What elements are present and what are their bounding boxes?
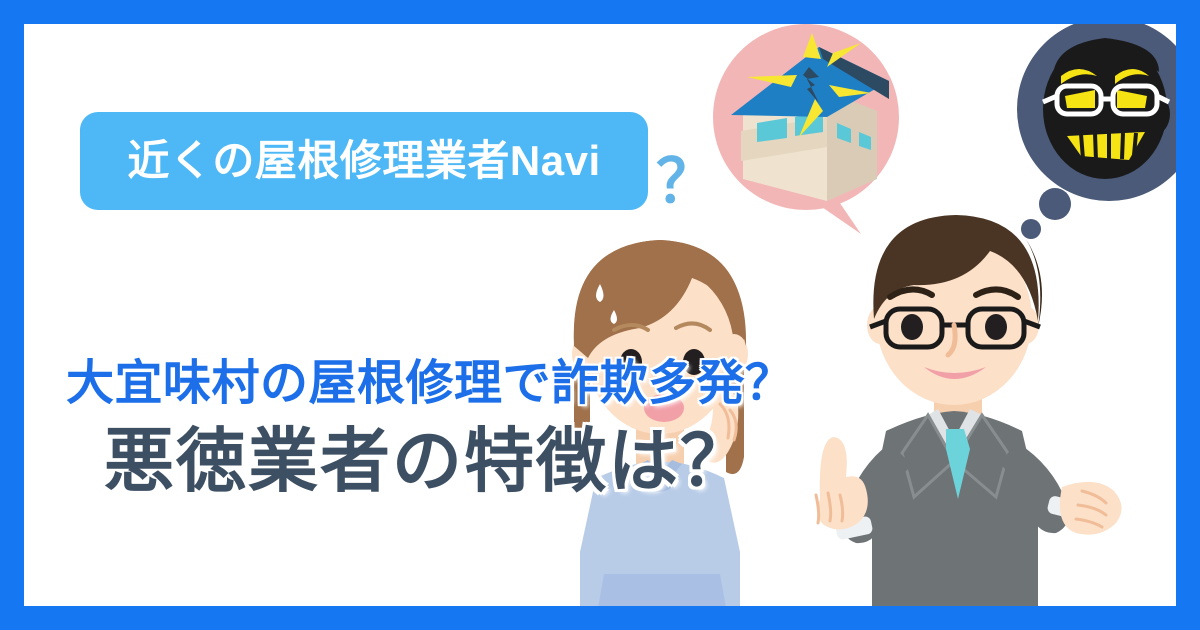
site-name-label: 近くの屋根修理業者Navi (127, 140, 600, 182)
worried-woman-illustration (544, 222, 774, 606)
site-name-badge[interactable]: 近くの屋根修理業者Navi (80, 112, 648, 210)
thumbnail-canvas: 近くの屋根修理業者Navi ？ 大宜味村の屋根修理で詐欺多発？ 悪徳業者の特徴は… (0, 0, 1200, 630)
content-area: 近くの屋根修理業者Navi ？ 大宜味村の屋根修理で詐欺多発？ 悪徳業者の特徴は… (24, 24, 1176, 606)
question-mark-icon: ？ (656, 152, 716, 212)
advisor-businessman-illustration (794, 199, 1124, 606)
